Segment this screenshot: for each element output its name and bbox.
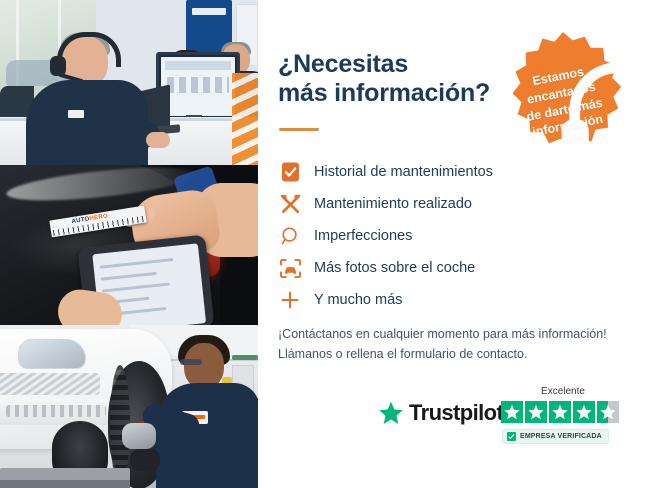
trustpilot-logo[interactable]: Trustpilot [378,400,503,426]
clipboard-check-icon [276,159,304,185]
content-panel: ¿Necesitas más información? Estamos enca… [258,0,650,488]
verified-label: EMPRESA VERIFICADA [520,433,602,440]
car-photo-frame-icon [276,255,304,281]
tools-icon [276,191,304,217]
headset-band [57,32,121,67]
car-headlight [18,339,86,369]
info-poster: AUTOHERO [0,0,650,488]
car-grille [0,373,100,395]
star-2 [525,401,547,423]
traffic-cones [232,73,258,165]
title-underline [279,128,319,131]
contact-text: ¡Contáctanos en cualquier momento para m… [278,324,638,365]
feature-label: Imperfecciones [314,228,412,244]
tablet-line [101,272,157,281]
headset-icon [553,46,575,66]
bumper-vent [6,405,106,417]
plus-icon [276,287,304,313]
call-agent [24,36,154,165]
contact-line-1: ¡Contáctanos en cualquier momento para m… [278,324,638,344]
feature-item-maintenance-done: Mantenimiento realizado [276,188,576,220]
photo-column: AUTOHERO [0,0,258,488]
feature-item-maintenance-history: Historial de mantenimientos [276,156,576,188]
support-badge[interactable]: Estamos encantados de darte más informac… [498,28,628,158]
tablet-line [102,283,170,293]
inspection-ruler-photo: AUTOHERO [0,165,258,325]
tablet-line [100,258,174,269]
verified-check-icon [507,432,516,441]
feature-item-imperfections: Imperfecciones [276,220,576,252]
trustpilot-star-icon [378,400,404,426]
feature-item-more-photos: Más fotos sobre el coche [276,252,576,284]
trustpilot-wordmark: Trustpilot [409,400,503,426]
star-5-half [597,401,619,423]
star-3 [549,401,571,423]
contact-line-2: Llámanos o rellena el formulario de cont… [278,344,638,364]
mechanic-wheel-photo [0,325,258,488]
feature-list: Historial de mantenimientos Mantenimient… [276,156,576,316]
star-1 [501,401,523,423]
star-4 [573,401,595,423]
verified-company-badge: EMPRESA VERIFICADA [502,429,609,444]
work-polo [156,383,258,488]
trustpilot-widget[interactable]: Trustpilot Excelente [378,386,628,456]
call-center-photo [0,0,258,165]
safety-glasses [180,359,202,365]
feature-label: Más fotos sobre el coche [314,260,475,276]
work-glove [122,423,156,449]
feature-label: Mantenimiento realizado [314,196,472,212]
trustpilot-stars [501,401,619,423]
work-glove-2 [130,449,160,471]
feature-item-much-more: Y mucho más [276,284,576,316]
feature-label: Y mucho más [314,292,402,308]
hand [146,132,170,148]
magnifier-icon [276,223,304,249]
mechanic [160,337,258,488]
car-lift-base [0,480,130,488]
trustpilot-rating-label: Excelente [501,386,625,397]
monitor-screen [161,57,235,116]
feature-label: Historial de mantenimientos [314,164,493,180]
name-badge [68,110,84,118]
